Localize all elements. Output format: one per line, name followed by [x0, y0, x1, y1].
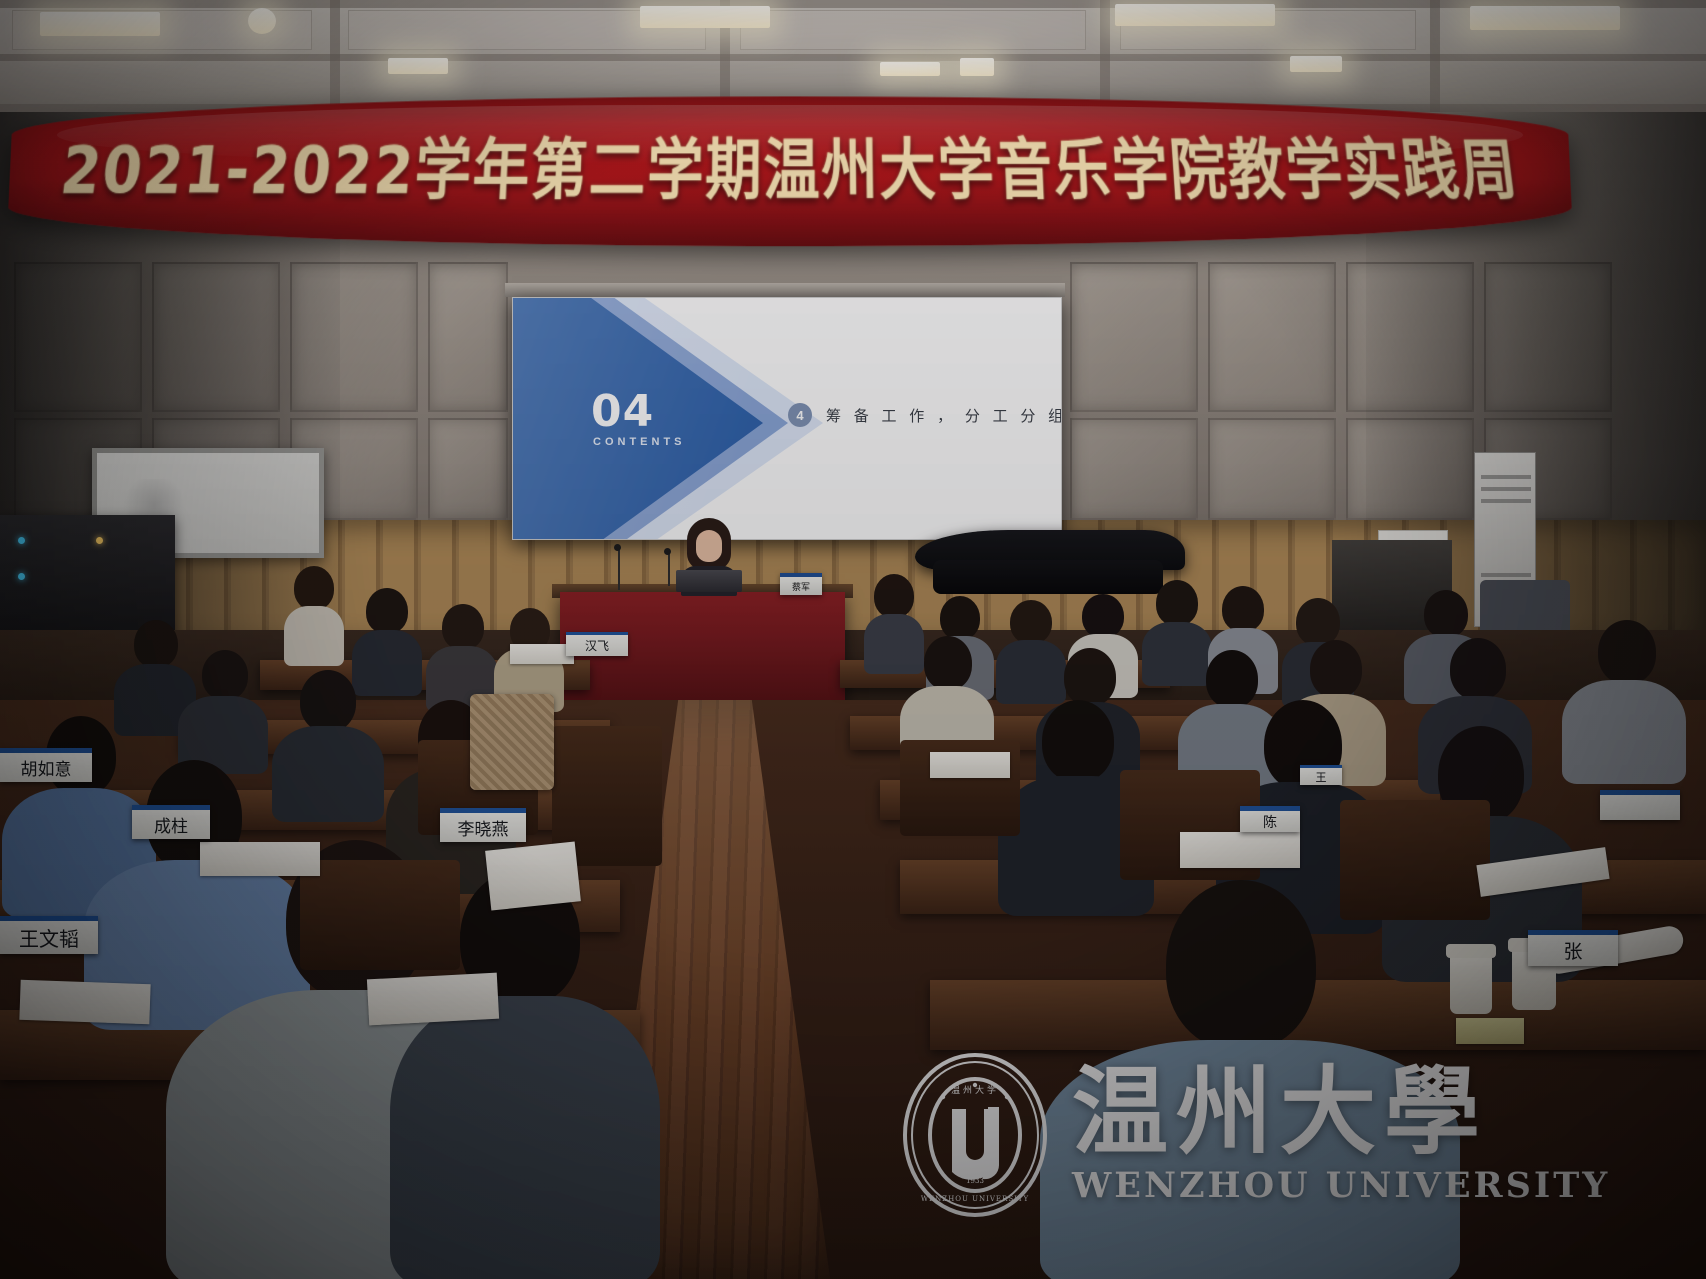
- head: [924, 636, 972, 690]
- torso: [390, 996, 660, 1279]
- handbag: [470, 694, 554, 790]
- screen-glare: [513, 298, 1061, 539]
- wall-panel: [428, 262, 508, 412]
- ceiling-light: [1115, 4, 1275, 26]
- head: [1064, 648, 1116, 706]
- microphone-stand: [668, 552, 670, 586]
- head: [366, 588, 408, 634]
- microphone-stand: [618, 548, 620, 590]
- ceiling-beam: [0, 54, 1706, 61]
- head: [134, 620, 178, 668]
- notepad: [19, 980, 150, 1025]
- microphone-head: [614, 544, 621, 551]
- ceiling-panel: [740, 10, 1086, 50]
- status-led: [18, 537, 25, 544]
- nameplate-text: 王文韬: [19, 923, 79, 952]
- head: [1296, 598, 1340, 646]
- notepad: [367, 973, 499, 1026]
- watermark-text-block: 温州大學 WENZHOU UNIVERSITY: [1072, 1064, 1610, 1207]
- svg-text:温州大学: 温州大学: [951, 1084, 999, 1096]
- notepad: [1180, 832, 1300, 868]
- head: [1310, 640, 1362, 698]
- chair-back: [300, 860, 460, 970]
- ceiling-beam: [0, 0, 1706, 8]
- nameplate-text: 张: [1563, 937, 1582, 964]
- audience-member: [282, 670, 374, 816]
- torso: [1562, 680, 1686, 784]
- audience-member: [1576, 620, 1672, 780]
- svg-text:WENZHOU UNIVERSITY: WENZHOU UNIVERSITY: [921, 1195, 1029, 1203]
- ceiling-light: [388, 58, 448, 74]
- screen-rail: [505, 283, 1065, 297]
- notepad: [485, 841, 581, 910]
- ac-vent: [1481, 499, 1531, 503]
- audience-member: [186, 650, 260, 770]
- nameplate-text: 汉飞: [585, 637, 609, 654]
- head: [940, 596, 980, 640]
- torso: [272, 726, 384, 822]
- notepad: [930, 752, 1010, 778]
- ac-vent: [1481, 487, 1531, 491]
- notepad: [510, 644, 574, 664]
- attendee-nameplate: 成柱: [132, 805, 210, 839]
- status-led: [18, 573, 25, 580]
- head: [300, 670, 356, 732]
- head: [1598, 620, 1656, 684]
- head: [1156, 580, 1198, 626]
- nameplate-text: 王: [1316, 769, 1327, 785]
- wenzhou-university-watermark: 温州大学 WENZHOU UNIVERSITY 1933 温州大學 WENZHO…: [900, 1010, 1700, 1260]
- head: [1042, 700, 1114, 782]
- cup-lid: [1446, 944, 1496, 958]
- wall-panel: [1070, 262, 1198, 412]
- audience-member: [430, 604, 494, 708]
- wall-panel: [1208, 262, 1336, 412]
- ceiling-light: [640, 6, 770, 28]
- ceiling-light: [40, 12, 160, 36]
- attendee-nameplate: 陈: [1240, 806, 1300, 832]
- head: [1424, 590, 1468, 638]
- wall-panel: [1070, 418, 1198, 520]
- ceiling-light: [880, 62, 940, 76]
- speaker-face: [696, 530, 722, 562]
- ceiling-light: [1470, 6, 1620, 30]
- watermark-english: WENZHOU UNIVERSITY: [1072, 1165, 1610, 1206]
- head: [442, 604, 484, 650]
- head: [1450, 638, 1506, 700]
- head: [202, 650, 248, 700]
- podium-laptop: [676, 570, 742, 592]
- head: [1082, 594, 1124, 638]
- paper-cup: [1450, 950, 1492, 1014]
- podium-nameplate: 蔡军: [780, 573, 822, 595]
- grand-piano: [915, 530, 1185, 600]
- attendee-nameplate: [1600, 790, 1680, 820]
- audience-member: [286, 566, 342, 662]
- nameplate-text: 李晓燕: [458, 815, 509, 840]
- attendee-nameplate: 张: [1528, 930, 1618, 966]
- attendee-nameplate: 王: [1300, 765, 1342, 785]
- head: [1010, 600, 1052, 644]
- nameplate-text: 成柱: [154, 812, 188, 837]
- university-seal-icon: 温州大学 WENZHOU UNIVERSITY 1933: [900, 1051, 1050, 1219]
- chair-back: [1340, 800, 1490, 920]
- ceiling-light: [1290, 56, 1342, 72]
- attendee-nameplate: 李晓燕: [440, 808, 526, 842]
- attendee-nameplate: 胡如意: [0, 748, 92, 782]
- ac-vent: [1481, 475, 1531, 479]
- watermark-chinese: 温州大學: [1072, 1064, 1488, 1162]
- microphone-head: [664, 548, 671, 555]
- nameplate-text: 陈: [1263, 812, 1277, 832]
- status-led: [96, 537, 103, 544]
- audience-member: [1016, 700, 1136, 910]
- photo-scene: 2021-2022学年第二学期温州大学音乐学院教学实践周 04 CONTENTS…: [0, 0, 1706, 1279]
- event-banner: 2021-2022学年第二学期温州大学音乐学院教学实践周: [10, 96, 1570, 246]
- wall-panel: [428, 418, 508, 520]
- torso: [284, 606, 344, 666]
- wall-panel: [1208, 418, 1336, 520]
- svg-text:1933: 1933: [966, 1177, 984, 1185]
- ceiling-light: [248, 8, 276, 34]
- podium-nameplate-text: 蔡军: [792, 580, 810, 593]
- attendee-nameplate: 汉飞: [566, 632, 628, 656]
- notepad: [200, 842, 320, 876]
- piano-body: [933, 560, 1163, 594]
- head: [294, 566, 334, 610]
- attendee-nameplate: 王文韬: [0, 916, 98, 954]
- ac-vent: [1481, 573, 1531, 577]
- head: [1222, 586, 1264, 632]
- head: [874, 574, 914, 618]
- ceiling-light: [960, 58, 994, 76]
- nameplate-text: 胡如意: [21, 755, 72, 780]
- banner-title: 2021-2022学年第二学期温州大学音乐学院教学实践周: [3, 118, 1576, 213]
- projection-screen: 04 CONTENTS 4 筹 备 工 作 ， 分 工 分 组: [512, 297, 1062, 540]
